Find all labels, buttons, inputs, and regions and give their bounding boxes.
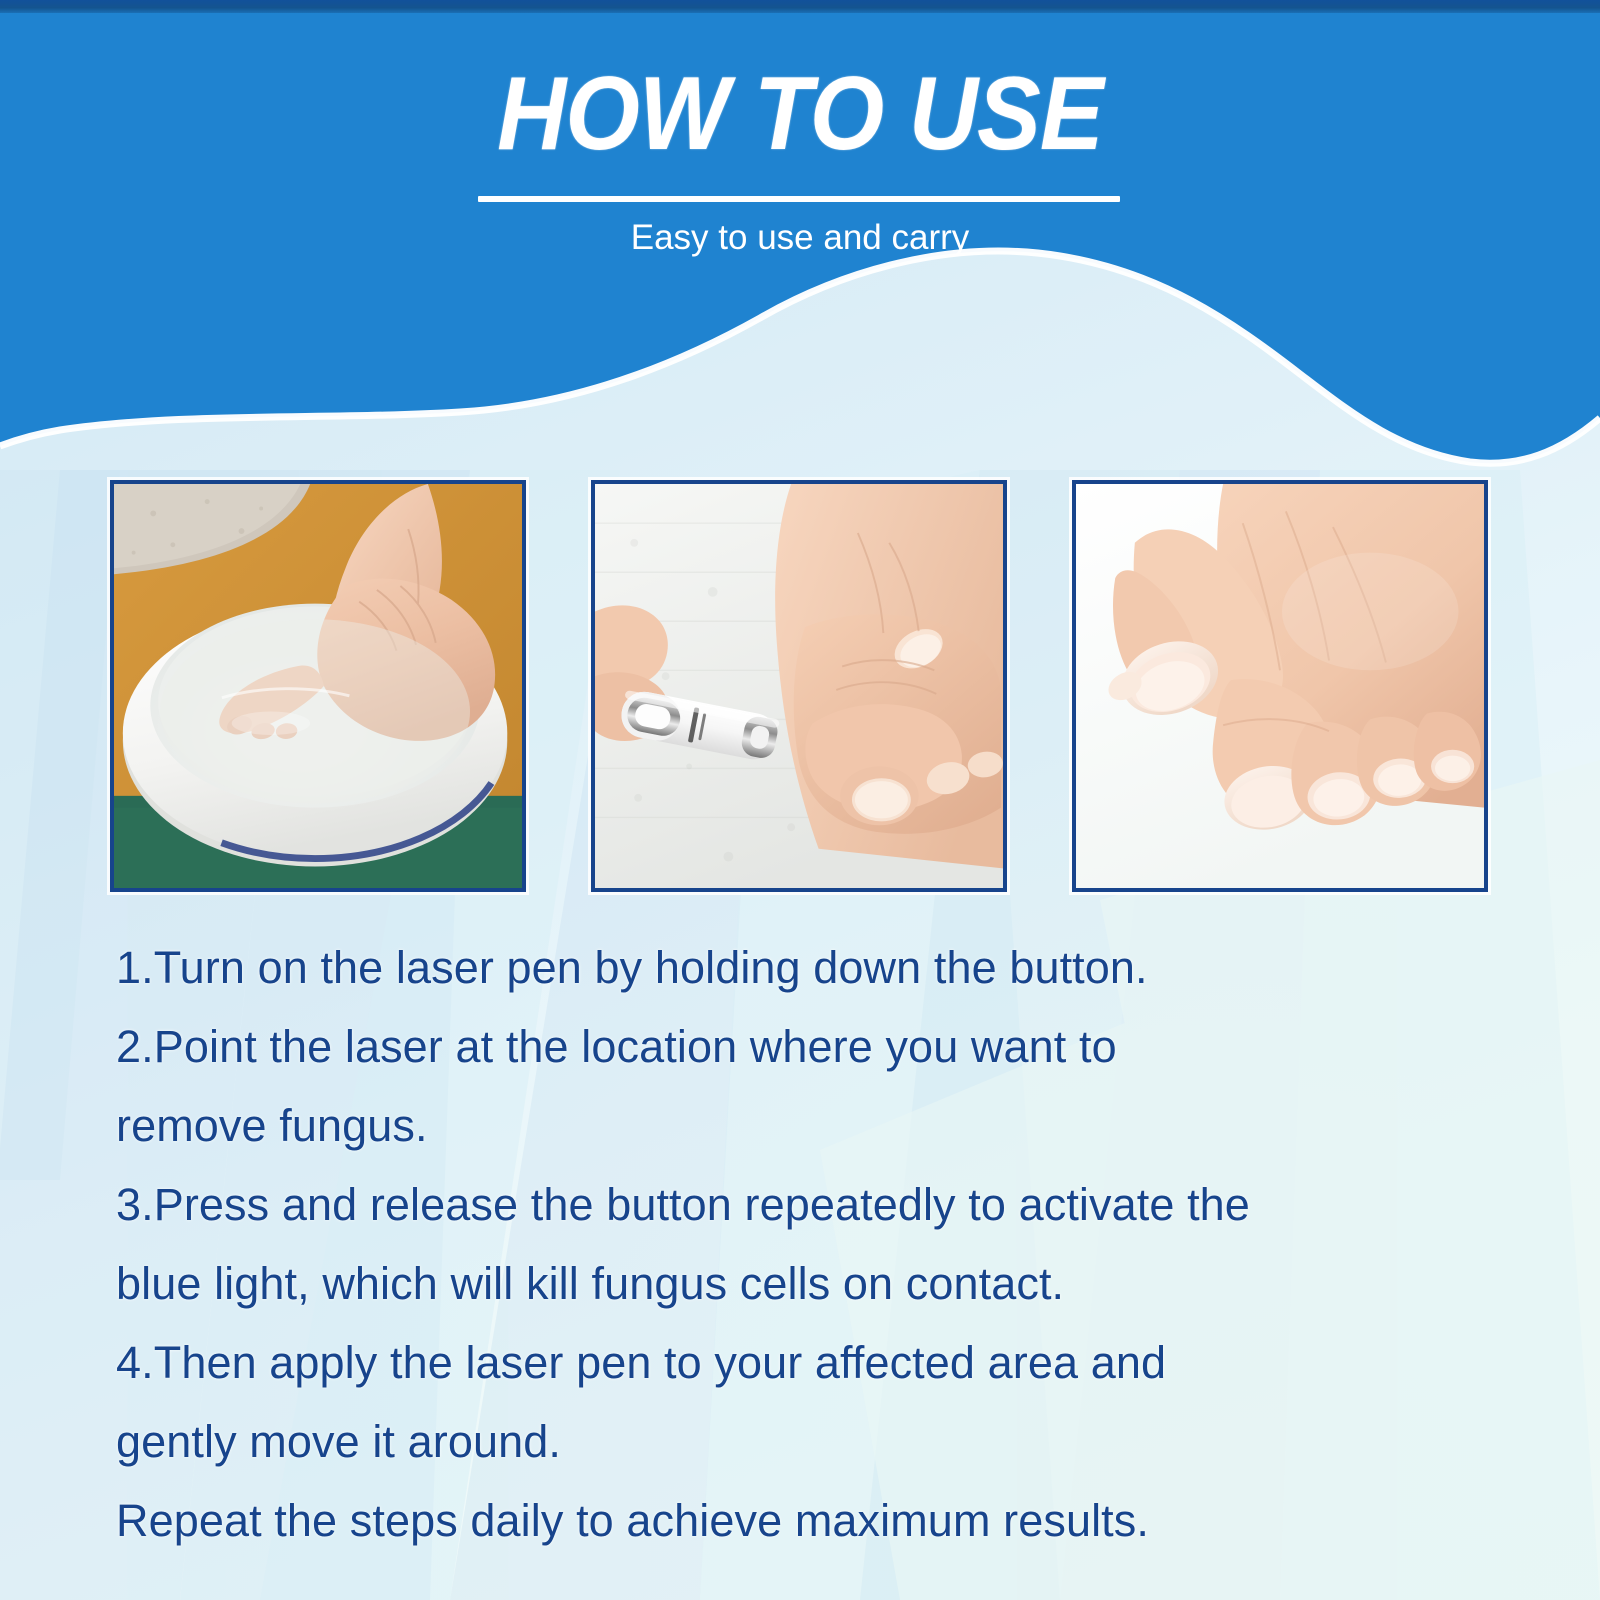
photo-apply-laser-pen-to-toenail xyxy=(595,484,1003,888)
instruction-line-1: 1.Turn on the laser pen by holding down … xyxy=(116,928,1516,1007)
photo-healthy-toenails-result xyxy=(1076,484,1484,888)
how-to-use-infographic: HOW TO USE Easy to use and carry xyxy=(0,0,1600,1600)
instruction-line-6: 4.Then apply the laser pen to your affec… xyxy=(116,1323,1516,1402)
instruction-line-2: 2.Point the laser at the location where … xyxy=(116,1007,1516,1086)
title-underline-rule xyxy=(478,196,1120,202)
instruction-line-5: blue light, which will kill fungus cells… xyxy=(116,1244,1516,1323)
step-photo-3-healthy-toenails xyxy=(1072,480,1488,892)
instruction-steps: 1.Turn on the laser pen by holding down … xyxy=(116,928,1516,1560)
instruction-line-8: Repeat the steps daily to achieve maximu… xyxy=(116,1481,1516,1560)
step-photo-gallery xyxy=(110,480,1488,892)
step-photo-1-soak-foot xyxy=(110,480,526,892)
header-top-accent-band xyxy=(0,0,1600,13)
page-title: HOW TO USE xyxy=(64,62,1536,166)
photo-soak-foot-in-basin xyxy=(114,484,522,888)
instruction-line-4: 3.Press and release the button repeatedl… xyxy=(116,1165,1516,1244)
instruction-line-3: remove fungus. xyxy=(116,1086,1516,1165)
page-subtitle: Easy to use and carry xyxy=(0,215,1600,261)
instruction-line-7: gently move it around. xyxy=(116,1402,1516,1481)
step-photo-2-apply-laser-pen xyxy=(591,480,1007,892)
